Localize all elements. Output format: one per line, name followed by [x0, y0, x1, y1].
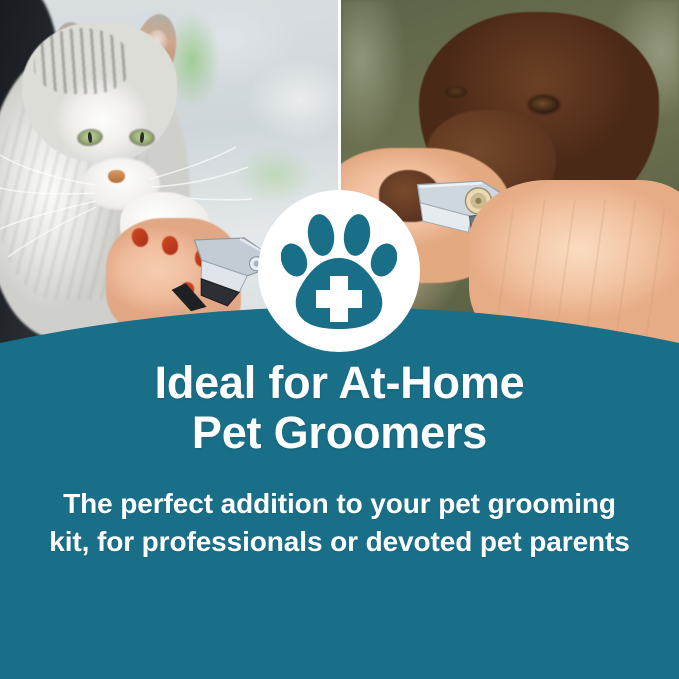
- handler-hand-foreground: [469, 180, 679, 360]
- paw-medical-cross-icon: [281, 210, 397, 332]
- subheadline: The perfect addition to your pet groomin…: [0, 485, 679, 561]
- subheadline-line-2: kit, for professionals or devoted pet pa…: [22, 523, 657, 561]
- headline-line-1: Ideal for At-Home: [42, 358, 637, 408]
- puppy-eye-right: [529, 96, 559, 113]
- headline: Ideal for At-Home Pet Groomers: [0, 358, 679, 458]
- text-block: Ideal for At-Home Pet Groomers The perfe…: [0, 358, 679, 561]
- paw-badge: [258, 190, 420, 352]
- cat-nail-trim-photo: [0, 0, 338, 400]
- subheadline-line-1: The perfect addition to your pet groomin…: [22, 485, 657, 523]
- headline-line-2: Pet Groomers: [42, 408, 637, 458]
- puppy-nail-trim-photo: [341, 0, 679, 400]
- pet-grooming-banner: Ideal for At-Home Pet Groomers The perfe…: [0, 0, 679, 679]
- puppy-eye-left: [445, 86, 467, 98]
- cat-nose: [108, 170, 125, 183]
